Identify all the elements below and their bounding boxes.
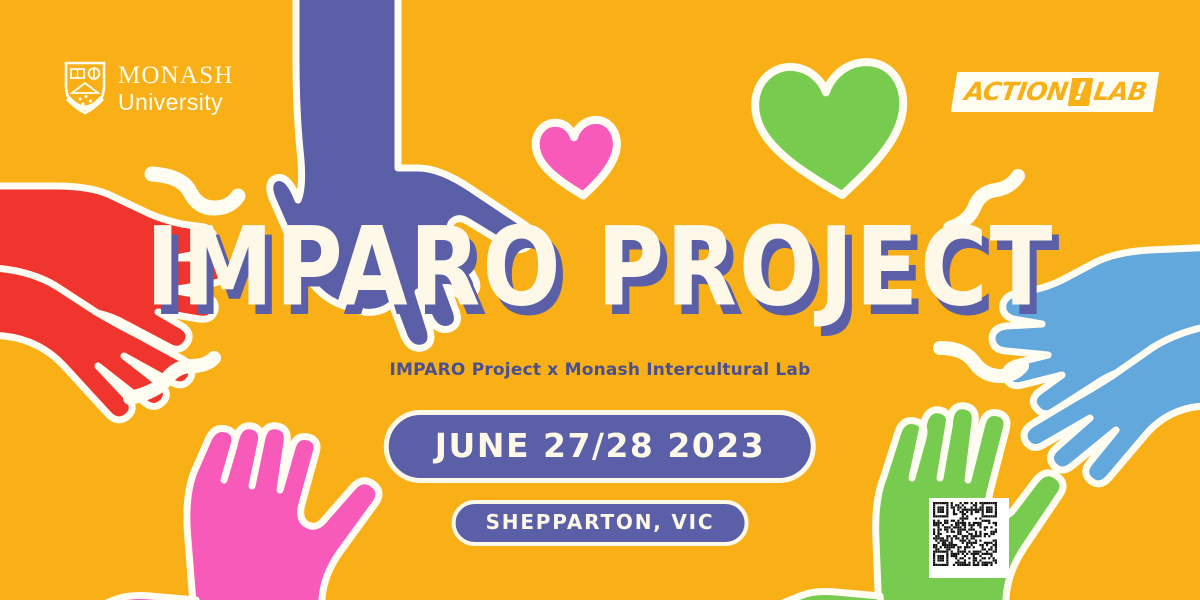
monash-name-top: MONASH [118, 63, 234, 88]
action-lab-word-action: ACTION [963, 77, 1070, 106]
squiggle-left-upper-icon [152, 174, 238, 208]
event-date-label: JUNE 27/28 2023 [435, 426, 765, 465]
poster-subtitle: IMPARO Project x Monash Intercultural La… [0, 360, 1200, 380]
action-lab-word-lab: LAB [1092, 77, 1149, 106]
monash-name-bottom: University [118, 91, 234, 114]
event-location-label: SHEPPARTON, VIC [486, 510, 715, 534]
event-location-badge: SHEPPARTON, VIC [452, 500, 749, 546]
qr-code-canvas[interactable] [933, 502, 997, 566]
monash-university-logo: MONASH University [62, 60, 234, 116]
monash-crest-icon [62, 60, 108, 116]
action-lab-exclamation-icon: ! [1069, 78, 1094, 106]
hand-pink-bottom-left-icon [40, 426, 379, 600]
heart-pink-icon [533, 113, 625, 201]
qr-code[interactable] [929, 498, 1009, 578]
poster-title: IMPARO PROJECT [0, 214, 1200, 323]
event-poster: MONASH University ACTION ! LAB IMPARO PR… [0, 0, 1200, 600]
title-block: IMPARO PROJECT [0, 222, 1200, 314]
action-lab-logo: ACTION ! LAB [951, 72, 1159, 112]
action-lab-plate: ACTION ! LAB [951, 72, 1159, 112]
event-date-badge: JUNE 27/28 2023 [384, 410, 816, 483]
heart-green-icon [750, 50, 917, 207]
